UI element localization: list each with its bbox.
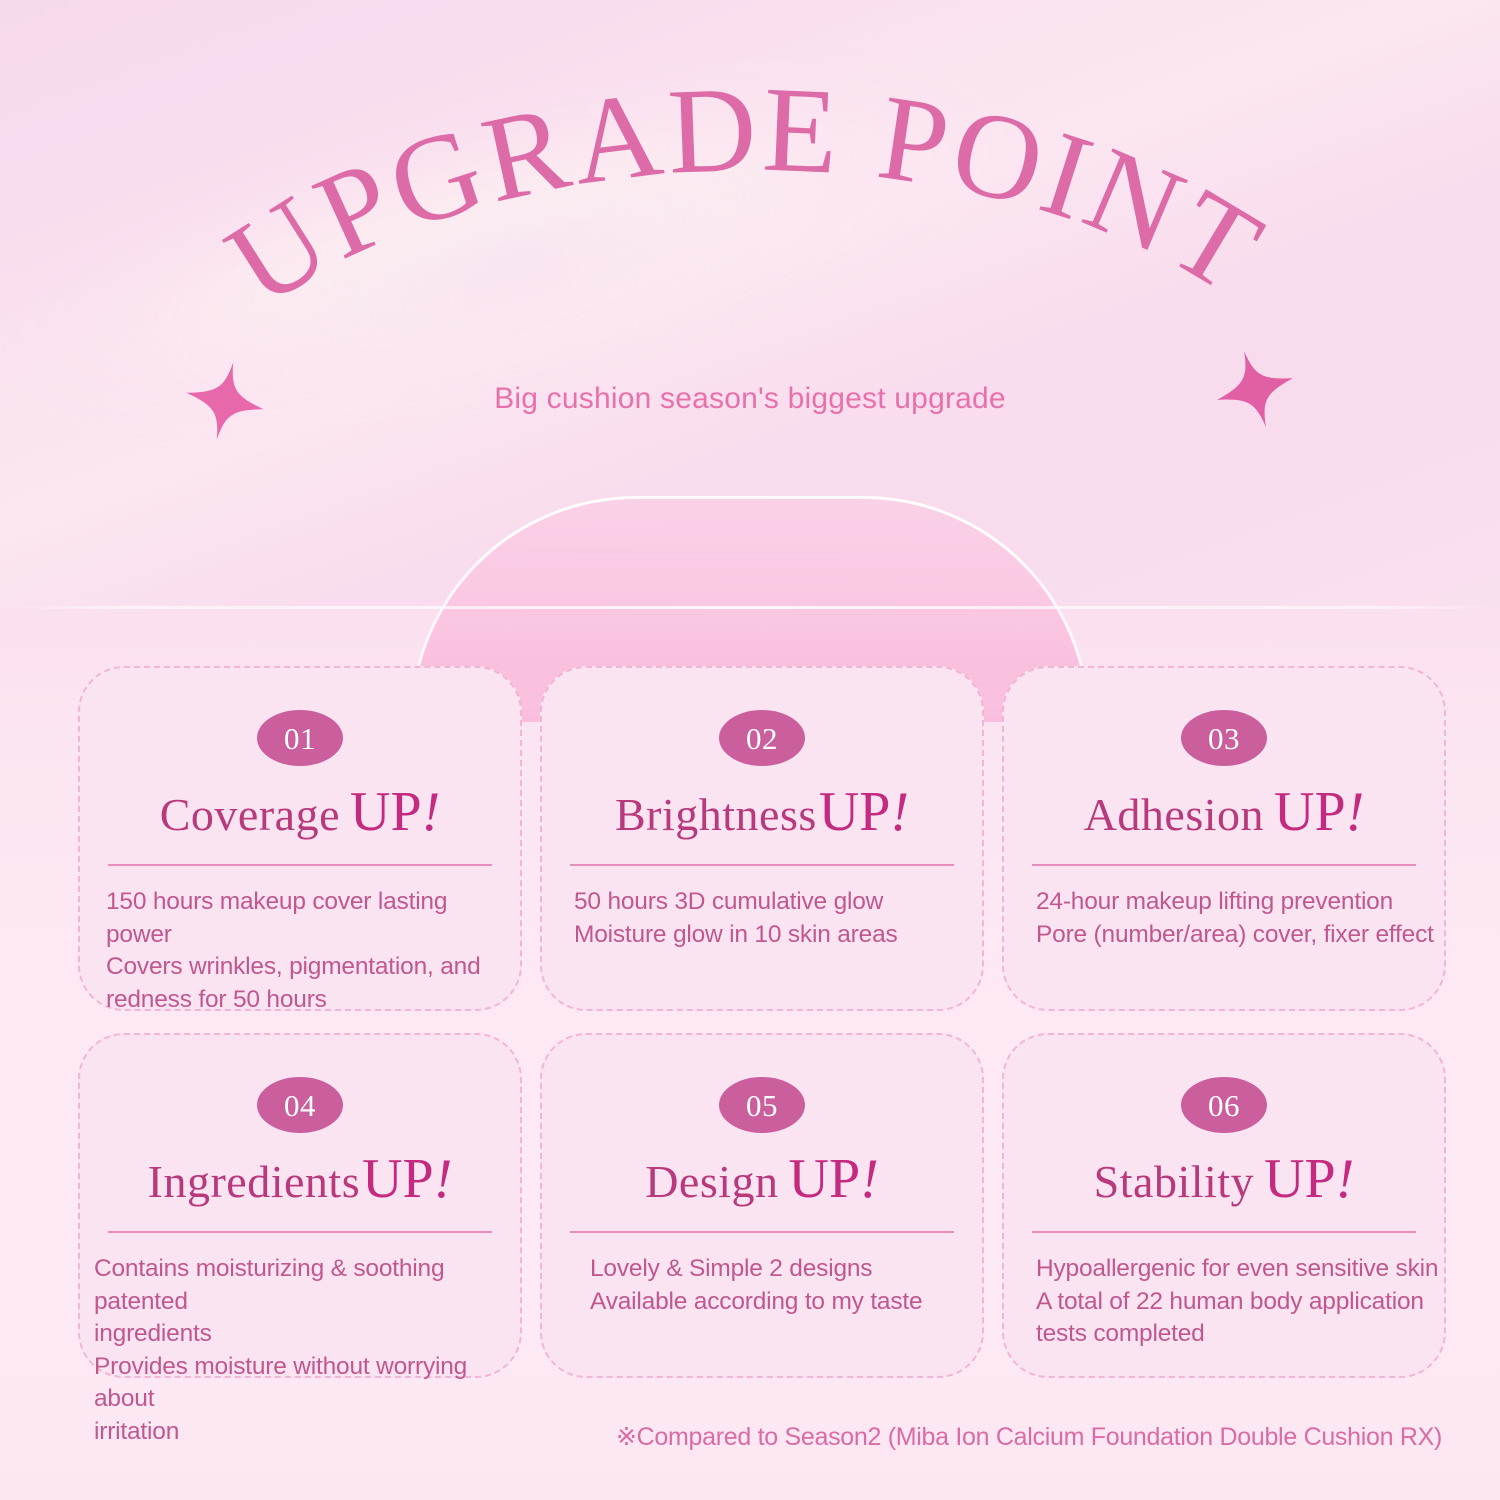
card-heading-word: Adhesion [1084,789,1264,840]
card-heading-up: UP! [819,781,909,843]
card-divider [1032,864,1416,866]
card-description: 24-hour makeup lifting prevention Pore (… [1036,886,1444,951]
card-description: 150 hours makeup cover lasting power Cov… [106,886,516,1016]
card-number-badge: 01 [257,710,343,766]
upgrade-card-04[interactable]: 04 IngredientsUP! Contains moisturizing … [78,1033,522,1378]
card-description: 50 hours 3D cumulative glow Moisture glo… [574,886,972,951]
card-description: Lovely & Simple 2 designs Available acco… [590,1253,972,1318]
card-heading-up: UP! [1274,781,1364,843]
card-number-badge: 06 [1181,1077,1267,1133]
card-heading: AdhesionUP! [1004,780,1444,844]
card-heading-word: Coverage [160,789,340,840]
card-description: Contains moisturizing & soothing patente… [94,1253,530,1448]
card-heading-up: UP! [1264,1148,1354,1210]
card-heading: DesignUP! [542,1147,982,1211]
upgrade-point-grid: 01 CoverageUP! 150 hours makeup cover la… [78,666,1446,1378]
card-heading: StabilityUP! [1004,1147,1444,1211]
upgrade-card-01[interactable]: 01 CoverageUP! 150 hours makeup cover la… [78,666,522,1011]
card-heading-up: UP! [350,781,440,843]
footnote-disclaimer: ※Compared to Season2 (Miba Ion Calcium F… [0,1422,1442,1452]
page-title-text: UPGRADE POINT [205,61,1286,331]
upgrade-card-03[interactable]: 03 AdhesionUP! 24-hour makeup lifting pr… [1002,666,1446,1011]
card-heading: BrightnessUP! [542,780,982,844]
card-heading-word: Brightness [615,789,817,840]
card-heading-up: UP! [789,1148,879,1210]
card-divider [570,864,954,866]
infographic-page: UPGRADE POINT Big cushion season's bigge… [0,0,1500,1500]
header-section: UPGRADE POINT Big cushion season's bigge… [0,0,1500,612]
card-heading-word: Stability [1094,1156,1254,1207]
card-heading-word: Design [645,1156,778,1207]
card-divider [108,864,492,866]
card-heading-word: Ingredients [148,1156,360,1207]
card-divider [570,1231,954,1233]
card-heading: IngredientsUP! [80,1147,520,1211]
card-description: Hypoallergenic for even sensitive skin A… [1036,1253,1448,1351]
page-subtitle: Big cushion season's biggest upgrade [0,382,1500,416]
card-number-badge: 03 [1181,710,1267,766]
upgrade-card-02[interactable]: 02 BrightnessUP! 50 hours 3D cumulative … [540,666,984,1011]
card-heading: CoverageUP! [80,780,520,844]
card-number-badge: 04 [257,1077,343,1133]
card-heading-up: UP! [362,1148,452,1210]
upgrade-card-05[interactable]: 05 DesignUP! Lovely & Simple 2 designs A… [540,1033,984,1378]
upgrade-card-06[interactable]: 06 StabilityUP! Hypoallergenic for even … [1002,1033,1446,1378]
card-divider [108,1231,492,1233]
card-number-badge: 05 [719,1077,805,1133]
card-number-badge: 02 [719,710,805,766]
card-divider [1032,1231,1416,1233]
